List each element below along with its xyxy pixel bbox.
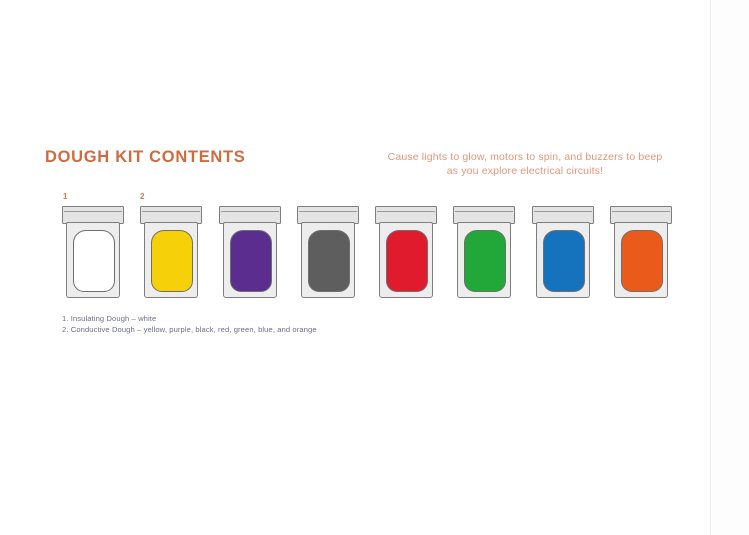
tagline-line-1: Cause lights to glow, motors to spin, an… <box>360 150 690 164</box>
jar-body <box>614 222 668 298</box>
dough-fill-yellow <box>151 230 193 292</box>
callout-number-1: 1 <box>63 192 67 201</box>
jar-body <box>66 222 120 298</box>
dough-jar-green <box>453 206 515 298</box>
legend-item-conductive: 2. Conductive Dough – yellow, purple, bl… <box>62 324 317 335</box>
dough-jar-blue <box>532 206 594 298</box>
dough-fill-orange <box>621 230 663 292</box>
page-outer-margin <box>712 0 749 535</box>
page-title: DOUGH KIT CONTENTS <box>45 148 246 167</box>
jar-body <box>379 222 433 298</box>
dough-fill-purple <box>230 230 272 292</box>
jar-body <box>223 222 277 298</box>
jar-body <box>144 222 198 298</box>
dough-jar-white <box>62 206 124 298</box>
callout-number-2: 2 <box>140 192 144 201</box>
header-band: DOUGH KIT CONTENTS Cause lights to glow,… <box>0 148 711 188</box>
tagline: Cause lights to glow, motors to spin, an… <box>360 150 690 178</box>
tagline-line-2: as you explore electrical circuits! <box>360 164 690 178</box>
legend-item-insulating: 1. Insulating Dough – white <box>62 313 317 324</box>
dough-jar-row <box>62 206 672 298</box>
legend-list: 1. Insulating Dough – white 2. Conductiv… <box>62 313 317 336</box>
jar-body <box>536 222 590 298</box>
dough-jar-purple <box>219 206 281 298</box>
document-page: DOUGH KIT CONTENTS Cause lights to glow,… <box>0 0 711 535</box>
dough-fill-green <box>464 230 506 292</box>
jar-body <box>301 222 355 298</box>
dough-fill-red <box>386 230 428 292</box>
dough-fill-blue <box>543 230 585 292</box>
dough-jar-red <box>375 206 437 298</box>
dough-jar-black <box>297 206 359 298</box>
dough-jar-yellow <box>140 206 202 298</box>
jar-body <box>457 222 511 298</box>
dough-jar-orange <box>610 206 672 298</box>
dough-fill-black <box>308 230 350 292</box>
dough-fill-white <box>73 230 115 292</box>
